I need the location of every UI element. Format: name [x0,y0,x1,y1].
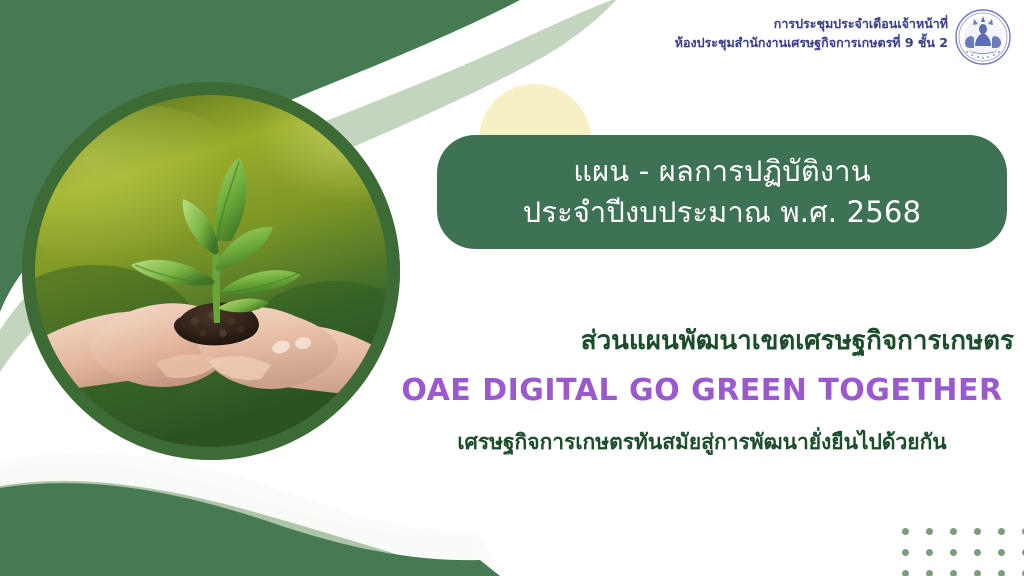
dot-grid-decoration [902,528,1024,576]
emblem-svg [954,8,1012,66]
dot [950,528,957,535]
dot [926,570,933,576]
dot [950,570,957,576]
presentation-slide: การประชุมประจำเดือนเจ้าหน้าที่ ห้องประชุ… [0,0,1024,576]
dot [974,549,981,556]
dot [998,549,1005,556]
slogan-thai: เศรษฐกิจการเกษตรทันสมัยสู่การพัฒนายั่งยื… [390,426,1014,460]
dot [926,549,933,556]
meeting-title: การประชุมประจำเดือนเจ้าหน้าที่ [675,14,948,33]
subtitle-block: ส่วนแผนพัฒนาเขตเศรษฐกิจการเกษตร OAE DIGI… [390,322,1014,460]
slogan-english: OAE DIGITAL GO GREEN TOGETHER [390,365,1014,416]
thai-government-emblem-icon [954,8,1012,66]
dot [902,549,909,556]
title-line-2: ประจำปีงบประมาณ พ.ศ. 2568 [523,192,921,233]
dot [974,528,981,535]
dot [998,528,1005,535]
title-line-1: แผน - ผลการปฏิบัติงาน [573,151,871,192]
dot [950,549,957,556]
dot [974,570,981,576]
dot [998,570,1005,576]
dot [902,570,909,576]
dot [902,528,909,535]
hands-holding-seedling-icon [35,95,387,447]
photo-inner [35,95,387,447]
meeting-location: ห้องประชุมสำนักงานเศรษฐกิจการเกษตรที่ 9 … [675,33,948,52]
department-name: ส่วนแผนพัฒนาเขตเศรษฐกิจการเกษตร [390,322,1014,361]
dot [926,528,933,535]
title-pill: แผน - ผลการปฏิบัติงาน ประจำปีงบประมาณ พ.… [437,135,1007,249]
seedling-photo [22,82,400,460]
header: การประชุมประจำเดือนเจ้าหน้าที่ ห้องประชุ… [675,8,1012,66]
header-text: การประชุมประจำเดือนเจ้าหน้าที่ ห้องประชุ… [675,8,948,53]
